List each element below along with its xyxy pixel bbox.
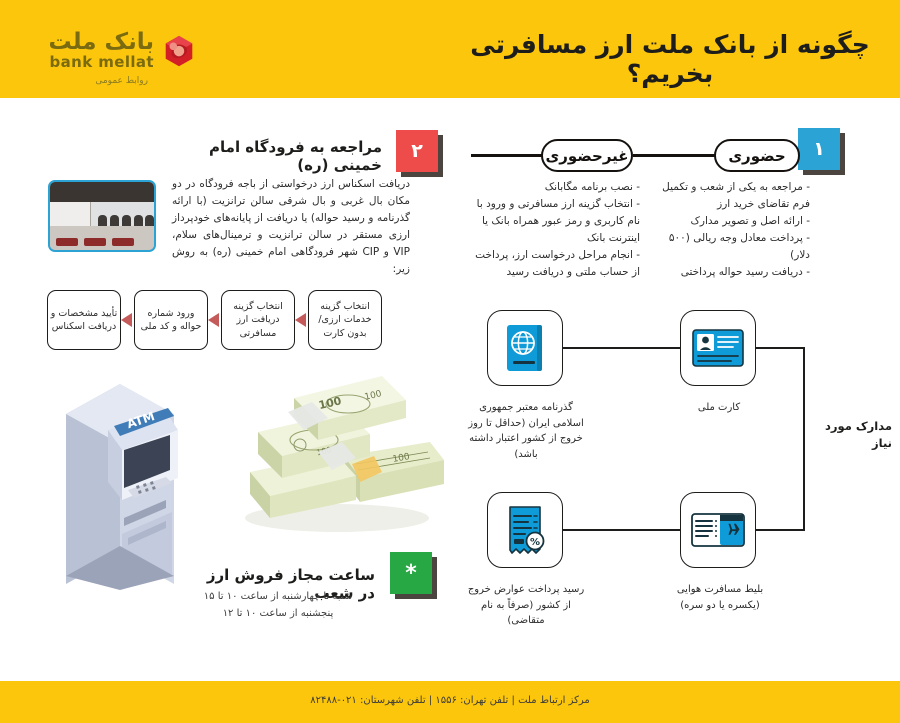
connector-line-a xyxy=(633,154,715,157)
step-2-badge: ۲ xyxy=(396,130,438,172)
document-label-national-id: کارت ملی xyxy=(668,400,770,416)
receipt-icon: % xyxy=(503,504,547,556)
remote-line: - انتخاب گزینه ارز مسافرتی و ورود با نام… xyxy=(468,196,640,247)
in-person-line: - پرداخت معادل وجه ریالی (۵۰۰ دلار) xyxy=(660,230,810,264)
logo-text-fa: بانک ملت xyxy=(49,30,154,54)
flow-arrow-icon xyxy=(208,313,219,327)
step-2-heading: مراجعه به فرودگاه امام خمینی (ره) xyxy=(172,138,382,174)
logo-subtitle: روابط عمومی xyxy=(95,76,148,86)
document-card-national-id xyxy=(680,310,756,386)
document-label-receipt: رسید پرداخت عوارض خروج از کشور (صرفاً به… xyxy=(465,582,587,629)
document-card-ticket xyxy=(680,492,756,568)
document-card-passport xyxy=(487,310,563,386)
atm-flow-step-2: انتخاب گزینه دریافت ارز مسافرتی xyxy=(221,290,295,350)
svg-text:%: % xyxy=(530,537,540,548)
doc-connector-top-left xyxy=(563,347,680,349)
step-2-paragraph: دریافت اسکناس ارز درخواستی از باجه فرودگ… xyxy=(172,176,410,278)
airport-counter-photo xyxy=(48,180,156,252)
hours-badge: * xyxy=(390,552,432,594)
doc-connector-top-right xyxy=(756,347,804,349)
hours-line: پنجشنبه از ساعت ۱۰ تا ۱۲ xyxy=(180,605,376,622)
atm-flow-step-4: تأیید مشخصات و دریافت اسکناس xyxy=(47,290,121,350)
step-1-in-person-text: - مراجعه به یکی از شعب و تکمیل فرم تقاضا… xyxy=(660,179,810,281)
logo-text-en: bank mellat xyxy=(49,54,154,71)
in-person-line: - ارائه اصل و تصویر مدارک xyxy=(660,213,810,230)
document-label-ticket: بلیط مسافرت هوایی (یکسره یا دو سره) xyxy=(660,582,780,613)
step-1-badge: ۱ xyxy=(798,128,840,170)
id-card-icon xyxy=(691,326,745,370)
documents-section-title: مدارک مورد نیاز xyxy=(812,418,892,453)
document-label-passport: گذرنامه معتبر جمهوری اسلامی ایران (حداقل… xyxy=(465,400,587,462)
passport-icon xyxy=(503,323,547,373)
page-title: چگونه از بانک ملت ارز مسافرتی بخریم؟ xyxy=(470,30,870,88)
doc-connector-bottom-left xyxy=(563,529,680,531)
bank-mellat-logo: بانک ملت bank mellat روابط عمومی xyxy=(40,30,200,92)
step-1-in-person-pill: حضوری xyxy=(714,139,800,172)
plane-ticket-icon xyxy=(690,509,746,551)
bank-mellat-logo-icon xyxy=(160,34,198,72)
logo-wordmark: بانک ملت bank mellat xyxy=(49,30,154,71)
document-card-receipt: % xyxy=(487,492,563,568)
hours-details: شنبه تا چهارشنبه از ساعت ۱۰ تا ۱۵ پنجشنب… xyxy=(180,588,376,622)
connector-line-b xyxy=(471,154,542,157)
doc-connector-vertical xyxy=(803,347,805,531)
step-1-remote-text: - نصب برنامه مگابانک - انتخاب گزینه ارز … xyxy=(468,179,640,281)
photo-ceiling xyxy=(50,182,154,202)
infographic-page: بانک ملت bank mellat روابط عمومی چگونه ا… xyxy=(0,0,900,723)
atm-flow-step-3: ورود شماره حواله و کد ملی xyxy=(134,290,208,350)
atm-machine-illustration: ATM xyxy=(62,378,212,593)
step-1-remote-pill: غیرحضوری xyxy=(541,139,633,172)
flow-arrow-icon xyxy=(121,313,132,327)
remote-line: - نصب برنامه مگابانک xyxy=(468,179,640,196)
in-person-line: - مراجعه به یکی از شعب و تکمیل فرم تقاضا… xyxy=(660,179,810,213)
doc-connector-bottom-right xyxy=(756,529,804,531)
remote-line: - انجام مراحل درخواست ارز، پرداخت از حسا… xyxy=(468,247,640,281)
flow-arrow-icon xyxy=(295,313,306,327)
in-person-line: - دریافت رسید حواله پرداختی xyxy=(660,264,810,281)
atm-flow-step-1: انتخاب گزینه خدمات ارزی/ بدون کارت xyxy=(308,290,382,350)
footer-contact-text: مرکز ارتباط ملت | تلفن تهران: ۱۵۵۶ | تلف… xyxy=(0,695,900,706)
cash-stacks-illustration: 100 100 100 100 xyxy=(232,360,447,540)
hours-line: شنبه تا چهارشنبه از ساعت ۱۰ تا ۱۵ xyxy=(180,588,376,605)
